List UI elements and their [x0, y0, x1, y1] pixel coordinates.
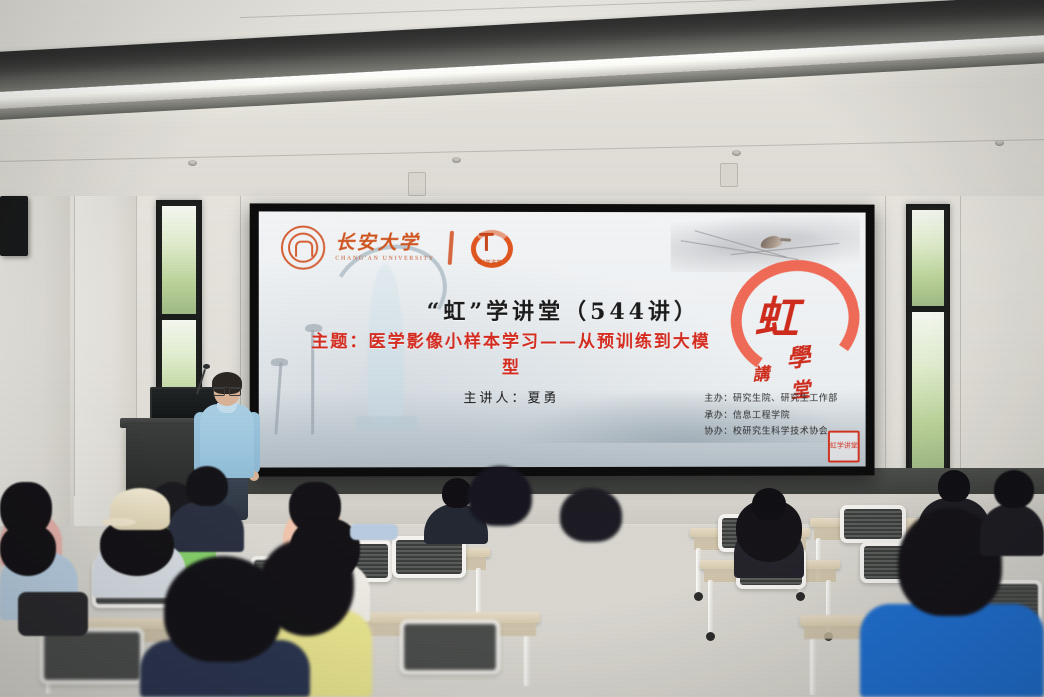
university-name-en: CHANG'AN UNIVERSITY — [335, 256, 434, 262]
chair-back — [400, 620, 500, 674]
ceiling-speaker-icon — [720, 163, 738, 187]
jacket-on-desk — [350, 524, 398, 540]
slide-title: “虹”学讲堂（544讲） — [259, 294, 866, 326]
university-name-cn: 长安大学 — [335, 234, 434, 253]
slide-speaker: 主讲人：夏勇 — [305, 387, 717, 406]
lecture-series-logo-label: “虹”学讲堂 — [467, 259, 509, 266]
desk-leg — [708, 580, 713, 634]
attendee-head — [560, 488, 622, 542]
ceiling-speaker-icon — [408, 172, 426, 196]
attendee-head — [468, 466, 532, 526]
attendee-long-hair — [0, 524, 56, 576]
ceiling-grid-line — [0, 139, 1044, 162]
organizer-coorganizer: 承办：信息工程学院 — [704, 407, 838, 424]
lecture-hall-photo: 长安大学 CHANG'AN UNIVERSITY “虹”学讲堂 虹 學 講 堂 — [0, 0, 1044, 697]
ceiling — [0, 0, 1044, 200]
glasses-icon — [213, 387, 241, 394]
wall-seam — [885, 196, 886, 496]
lecture-series-logo-icon: “虹”学讲堂 — [467, 228, 509, 268]
logo-bar — [485, 234, 488, 251]
sprinkler-icon — [188, 160, 197, 166]
chair-foreground-center — [400, 620, 492, 666]
desk-leg — [524, 636, 530, 686]
logo-divider — [448, 231, 454, 265]
slide-logo-row: 长安大学 CHANG'AN UNIVERSITY “虹”学讲堂 — [281, 226, 509, 270]
logo-cap — [479, 233, 494, 236]
sprinkler-icon — [732, 150, 741, 156]
wall-speaker-icon — [0, 196, 28, 256]
window-right — [906, 204, 950, 478]
red-seal-stamp: 虹学讲堂 — [828, 431, 860, 463]
attendee-head — [186, 466, 228, 506]
wall-seam — [74, 196, 75, 496]
presentation-slide: 长安大学 CHANG'AN UNIVERSITY “虹”学讲堂 虹 學 講 堂 — [259, 211, 866, 467]
cap-brim-icon — [102, 518, 136, 526]
window-pane — [912, 312, 944, 472]
chair-back — [40, 628, 144, 684]
attendee-silhouette-center — [460, 466, 540, 526]
attendee-black-hair-center — [730, 488, 808, 578]
organizer-supporter: 协办：校研究生科学技术协会 — [704, 424, 838, 441]
slide-organizers: 主办：研究生院、研究生工作部 承办：信息工程学院 协办：校研究生科学技术协会 — [704, 391, 838, 441]
attendee-head — [994, 470, 1034, 508]
window-pane — [912, 210, 944, 306]
calligraphy-char-xue: 學 — [784, 337, 811, 374]
sprinkler-icon — [452, 157, 461, 163]
attendee-head — [938, 470, 970, 502]
attendee-navy-foreground — [140, 556, 310, 697]
university-name: 长安大学 CHANG'AN UNIVERSITY — [335, 234, 434, 262]
attendee-silhouette-center-2 — [556, 488, 626, 542]
calligraphy-mark: 虹 學 講 堂 — [729, 260, 848, 410]
window-pane — [162, 206, 196, 314]
slide-watermark-lamp-head — [271, 358, 288, 366]
attendee-head — [164, 556, 282, 662]
microphone-icon — [203, 364, 210, 369]
sprinkler-icon — [995, 140, 1004, 146]
attendee-body — [860, 604, 1044, 697]
slide-watermark-base — [355, 416, 417, 430]
attendee-right-edge — [980, 470, 1044, 556]
projection-screen[interactable]: 长安大学 CHANG'AN UNIVERSITY “虹”学讲堂 虹 學 講 堂 — [250, 203, 875, 476]
calligraphy-char-jiang: 講 — [752, 359, 771, 385]
wall-seam — [960, 196, 961, 496]
attendee-head — [752, 488, 786, 520]
attendee-body — [980, 504, 1044, 556]
university-seal-icon — [281, 226, 325, 270]
desk-caster — [706, 632, 715, 641]
desk-leg — [476, 568, 481, 616]
organizer-host: 主办：研究生院、研究生工作部 — [704, 391, 838, 408]
bag-on-desk — [18, 592, 88, 636]
slide-topic: 主题：医学影像小样本学习——从预训练到大模型 — [305, 330, 717, 381]
desk-leg — [810, 639, 816, 695]
